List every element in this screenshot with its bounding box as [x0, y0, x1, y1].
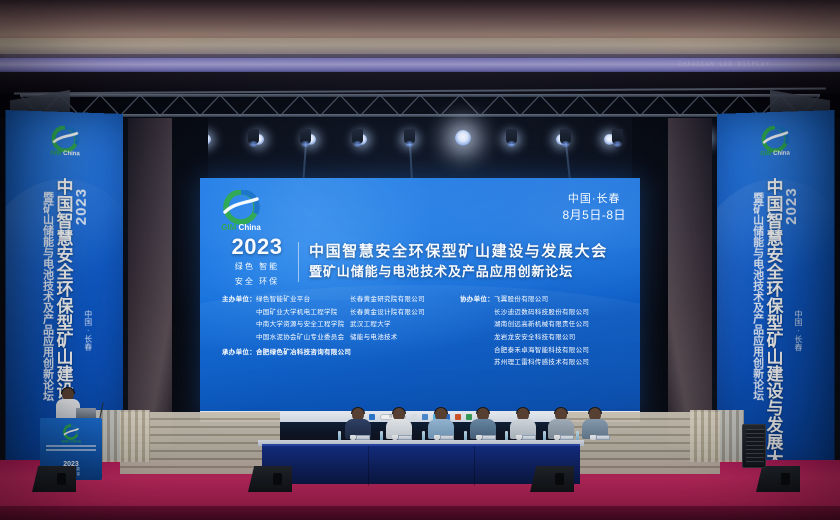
event-city: 中国·长春 — [562, 192, 626, 207]
svg-text:GIM China: GIM China — [221, 223, 261, 232]
panelist — [386, 408, 412, 438]
coorganizer-item: 苏州理工雷科传感技术有限公司 — [460, 357, 620, 370]
event-date-block: 中国·长春 8月5日-8日 — [562, 192, 626, 223]
event-titles: 中国智慧安全环保型矿山建设与发展大会 暨矿山储能与电池技术及产品应用创新论坛 — [309, 243, 608, 281]
water-bottle — [380, 431, 383, 440]
moving-head-light — [248, 129, 259, 144]
gim-china-logo-screen: GIM China — [210, 190, 272, 239]
water-bottle — [576, 431, 579, 440]
ceiling-cornice — [0, 38, 840, 54]
table-skirt-fold — [368, 446, 369, 486]
main-led-screen: GIM China 中国·长春 8月5日-8日 2023 绿色 智能 安全 环保… — [200, 178, 640, 422]
name-plate — [596, 435, 610, 440]
water-bottle — [543, 431, 546, 440]
stage-monitor-wedge — [530, 466, 574, 492]
panelist — [548, 408, 574, 438]
speaker-grille — [746, 429, 764, 465]
organizer-item: 中国矿业大学机电工程学院 — [222, 307, 350, 320]
title-mark: 暨 — [309, 264, 323, 279]
svg-text:GIM China: GIM China — [50, 151, 80, 158]
stage-monitor-wedge — [32, 466, 76, 492]
banner-right-year: 2023 — [783, 179, 798, 225]
undertaker-row: 承办单位：合肥绿色矿冶科技咨询有限公司 — [222, 346, 351, 356]
organizers-block: 主办单位：绿色智能矿业平台 中国矿业大学机电工程学院 中南大学资源与安全工程学院… — [222, 294, 622, 370]
coorganizer-item: 湖南创远高新机械有限责任公司 — [460, 319, 620, 332]
organizer-item: 长春黄金研究院有限公司 — [350, 294, 460, 307]
organizer-item: 中南大学资源与安全工程学院 — [222, 319, 350, 332]
moving-head-light — [560, 129, 571, 144]
organizer-column-2: 长春黄金研究院有限公司 长春黄金设计院有限公司 武汉工程大学 储能与电池技术 — [350, 294, 460, 370]
balustrade-right — [690, 410, 744, 462]
coorganizer-item: 合肥泰禾卓海智能科技有限公司 — [460, 345, 620, 358]
water-bottle — [338, 431, 341, 440]
undertaker-label: 承办单位： — [222, 349, 256, 356]
panelist — [428, 408, 454, 438]
stage-monitor-wedge — [248, 466, 292, 492]
undertaker-name: 合肥绿色矿冶科技咨询有限公司 — [256, 349, 351, 356]
organizer-item: 储能与电池技术 — [350, 332, 460, 345]
podium-text-line — [46, 449, 96, 451]
organizer-item: 武汉工程大学 — [350, 319, 460, 332]
panel-table-skirt — [262, 444, 580, 484]
table-skirt-fold — [474, 446, 475, 486]
name-plate — [522, 435, 536, 440]
podium-text-line — [46, 445, 96, 447]
event-date-range: 8月5日-8日 — [562, 207, 626, 223]
moving-head-light — [612, 129, 623, 144]
moving-head-light — [506, 129, 517, 144]
coorganizer-column: 协办单位：飞翼股份有限公司 长沙迪迈数码科技股份有限公司 湖南创远高新机械有限责… — [460, 294, 620, 370]
event-motto-line1: 绿色 智能 — [226, 261, 288, 273]
svg-text:GIM China: GIM China — [61, 439, 82, 444]
event-title-secondary: 暨矿山储能与电池技术及产品应用创新论坛 — [309, 264, 608, 281]
organizer-item: 中国水泥协会矿山专业委员会 — [222, 332, 350, 345]
title-divider — [298, 242, 299, 282]
event-title-primary: 中国智慧安全环保型矿山建设与发展大会 — [309, 243, 608, 262]
stage-column-left — [128, 118, 172, 448]
water-bottle — [422, 431, 425, 440]
host-label: 主办单位： — [222, 296, 256, 303]
stage-column-right — [668, 118, 712, 448]
name-plate — [398, 435, 412, 440]
stage-monitor-wedge — [756, 466, 800, 492]
gim-china-logo-banner-left: GIM China — [42, 125, 88, 163]
taskbar-app-icon[interactable] — [455, 414, 461, 420]
moving-head-light — [300, 129, 311, 144]
stage-lamp-bright — [455, 130, 471, 146]
pa-speaker-stack — [742, 424, 766, 468]
organizer-item: 长春黄金设计院有限公司 — [350, 307, 460, 320]
event-title-secondary-text: 矿山储能与电池技术及产品应用创新论坛 — [323, 264, 573, 279]
taskbar-app-icon[interactable] — [422, 414, 428, 420]
event-year: 2023 — [226, 236, 288, 258]
lighting-truss — [0, 88, 840, 138]
gim-china-logo-banner-right: GIM China — [752, 125, 798, 163]
panelist — [582, 408, 608, 438]
ceiling — [0, 0, 840, 60]
coorganizer-item: 长沙迪迈数码科技股份有限公司 — [460, 307, 620, 320]
banner-right-place: 中国·长春 — [794, 310, 802, 351]
event-motto-line2: 安全 环保 — [226, 276, 288, 288]
coorganizer-label: 协办单位： — [460, 296, 494, 303]
banner-left-place: 中国·长春 — [84, 310, 92, 351]
moving-head-light — [404, 129, 415, 144]
coorganizer-item: 龙岩龙安安全科技有限公司 — [460, 332, 620, 345]
organizer-item: 绿色智能矿业平台 — [256, 296, 310, 303]
banner-right-title: 中国智慧安全环保型矿山建设与发展大会 — [765, 178, 782, 470]
event-year-block: 2023 绿色 智能 安全 环保 — [226, 236, 288, 287]
water-bottle — [464, 431, 467, 440]
svg-text:GIM China: GIM China — [760, 151, 790, 158]
coorganizer-item: 飞翼股份有限公司 — [494, 296, 548, 303]
name-plate — [440, 435, 454, 440]
ticker-text: ZHAOXIAN LED DISPLAY — [678, 61, 770, 68]
organizer-column-1: 主办单位：绿色智能矿业平台 中国矿业大学机电工程学院 中南大学资源与安全工程学院… — [222, 294, 350, 370]
panelist — [470, 408, 496, 438]
water-bottle — [505, 431, 508, 440]
event-title-row: 2023 绿色 智能 安全 环保 中国智慧安全环保型矿山建设与发展大会 暨矿山储… — [226, 236, 608, 287]
stage-photo-scene: ZHAOXIAN LED DISPLAY — [0, 0, 840, 520]
name-plate — [356, 435, 370, 440]
moving-head-light — [352, 129, 363, 144]
banner-left-year: 2023 — [73, 179, 88, 225]
panelist — [345, 408, 371, 438]
name-plate — [560, 435, 574, 440]
carpet-runner — [0, 506, 840, 520]
truss-lattice — [20, 94, 820, 117]
balustrade-left — [96, 410, 150, 462]
name-plate — [482, 435, 496, 440]
panelist — [510, 408, 536, 438]
